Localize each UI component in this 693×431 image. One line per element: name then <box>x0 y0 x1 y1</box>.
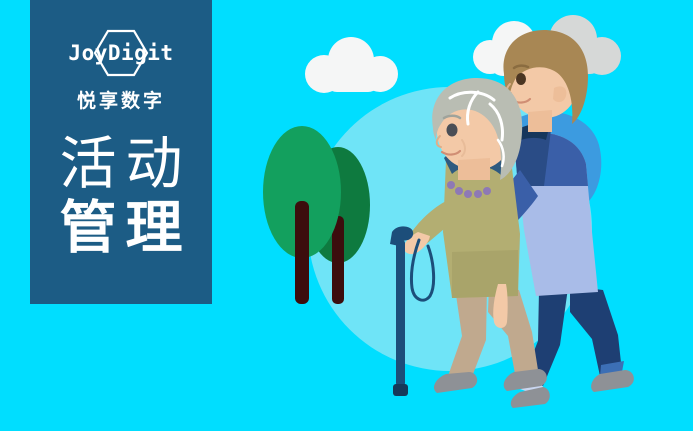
page-title-line-1: 活动 <box>30 132 212 196</box>
logo-chinese-name: 悦享数字 <box>30 86 212 113</box>
young-man-neck <box>528 110 552 132</box>
cane-tip <box>393 384 408 396</box>
logo-wordmark: JoyDigit <box>61 41 181 65</box>
cane-shaft <box>396 240 405 386</box>
elder-eye <box>447 124 458 137</box>
page-title: 活动 管理 <box>30 132 212 260</box>
elder-neck <box>458 158 490 180</box>
young-man-eye <box>516 73 526 85</box>
brand-logo: JoyDigit 悦享数字 <box>30 30 212 113</box>
title-panel: JoyDigit 悦享数字 活动 管理 <box>30 0 212 304</box>
logo-mark: JoyDigit <box>61 30 181 76</box>
elder-sweater-shade <box>452 250 518 298</box>
page-title-line-2: 管理 <box>30 196 212 260</box>
poster-canvas: JoyDigit 悦享数字 活动 管理 <box>0 0 693 431</box>
